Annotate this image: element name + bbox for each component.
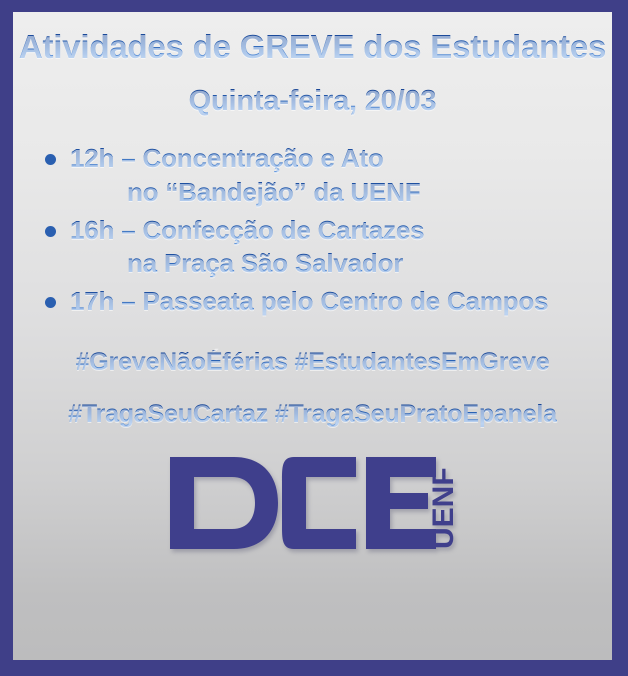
- hashtag-line-2: #TragaSeuCartaz #TragaSeuPratoEpanela: [68, 402, 557, 427]
- agenda-item-main: 17h – Passeata pelo Centro de Campos: [70, 285, 548, 318]
- list-item: 16h – Confecção de Cartazes na Praça São…: [13, 214, 612, 282]
- bullet-icon: [45, 154, 56, 165]
- poster-subtitle-row: Quinta-feira, 20/03: [13, 87, 612, 116]
- page-title: Atividades de GREVE dos Estudantes: [19, 30, 606, 63]
- dce-wordmark: [170, 457, 436, 549]
- hashtag-line-1: #GreveNãoÉférias #EstudantesEmGreve: [76, 350, 550, 375]
- uenf-institution-mark: UENF: [427, 467, 456, 549]
- agenda-list: 12h – Concentração e Ato no “Bandejão” d…: [13, 142, 612, 318]
- agenda-item-main: 16h – Confecção de Cartazes: [70, 214, 424, 247]
- list-item: 12h – Concentração e Ato no “Bandejão” d…: [13, 142, 612, 210]
- hashtag-block: #GreveNãoÉférias #EstudantesEmGreve #Tra…: [13, 350, 612, 427]
- dce-uenf-logo: UENF: [13, 457, 612, 549]
- hashtag-line-1-row: #GreveNãoÉférias #EstudantesEmGreve: [13, 350, 612, 375]
- agenda-item-row: 12h – Concentração e Ato: [13, 142, 612, 175]
- agenda-item-main: 12h – Concentração e Ato: [70, 142, 384, 175]
- page-subtitle: Quinta-feira, 20/03: [189, 87, 437, 116]
- agenda-item-sub-row: na Praça São Salvador: [13, 247, 612, 281]
- list-item: 17h – Passeata pelo Centro de Campos: [13, 285, 612, 318]
- bullet-icon: [45, 226, 56, 237]
- hashtag-line-2-row: #TragaSeuCartaz #TragaSeuPratoEpanela: [13, 402, 612, 427]
- poster-title-row: Atividades de GREVE dos Estudantes: [13, 30, 612, 63]
- poster-content-area: Atividades de GREVE dos Estudantes Quint…: [13, 12, 612, 660]
- agenda-item-row: 17h – Passeata pelo Centro de Campos: [13, 285, 612, 318]
- agenda-item-row: 16h – Confecção de Cartazes: [13, 214, 612, 247]
- agenda-item-sub-row: no “Bandejão” da UENF: [13, 176, 612, 210]
- dce-logo-graphic: UENF: [170, 457, 456, 549]
- agenda-item-sub: na Praça São Salvador: [127, 247, 403, 281]
- bullet-icon: [45, 297, 56, 308]
- svg-text:UENF: UENF: [427, 467, 456, 549]
- agenda-item-sub: no “Bandejão” da UENF: [127, 176, 420, 210]
- poster: Atividades de GREVE dos Estudantes Quint…: [0, 0, 628, 676]
